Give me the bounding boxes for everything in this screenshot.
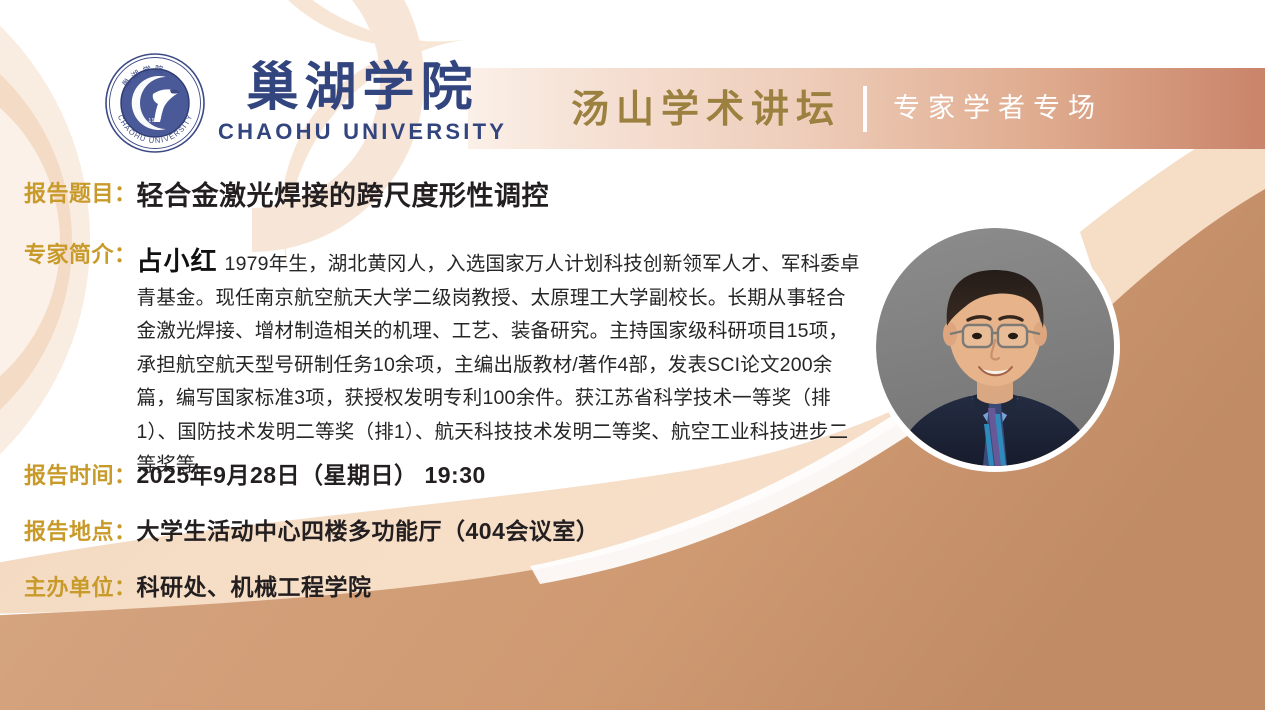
organizer-label: 主办单位：: [24, 574, 137, 602]
organizer-row: 主办单位： 科研处、机械工程学院: [24, 574, 372, 602]
svg-text:1977: 1977: [148, 118, 161, 124]
organizer-value: 科研处、机械工程学院: [137, 574, 372, 602]
place-label: 报告地点：: [24, 518, 137, 546]
speaker-name: 占小红: [137, 246, 218, 276]
university-logo: 1977 巢 湖 学 院 CHAOHU UNIVERSITY 巢湖学院 CHAO…: [104, 52, 507, 154]
seal-svg: 1977 巢 湖 学 院 CHAOHU UNIVERSITY: [104, 52, 206, 154]
bio-body: 占小红1979年生，湖北黄冈人，入选国家万人计划科技创新领军人才、军科委卓青基金…: [137, 241, 865, 483]
bio-text: 1979年生，湖北黄冈人，入选国家万人计划科技创新领军人才、军科委卓青基金。现任…: [137, 253, 860, 476]
portrait-image: [876, 228, 1114, 466]
banner-divider: [863, 86, 867, 132]
banner-main-title: 汤山学术讲坛: [571, 90, 841, 128]
title-value: 轻合金激光焊接的跨尺度形性调控: [137, 180, 550, 212]
place-value: 大学生活动中心四楼多功能厅（404会议室）: [137, 518, 600, 546]
university-seal-icon: 1977 巢 湖 学 院 CHAOHU UNIVERSITY: [104, 52, 206, 154]
university-wordmark: 巢湖学院 CHAOHU UNIVERSITY: [218, 61, 507, 145]
title-row: 报告题目： 轻合金激光焊接的跨尺度形性调控: [24, 180, 549, 212]
place-row: 报告地点： 大学生活动中心四楼多功能厅（404会议室）: [24, 518, 599, 546]
seminar-poster: 汤山学术讲坛 专家学者专场 1977 巢 湖 学 院: [0, 0, 1265, 710]
speaker-portrait: [876, 228, 1114, 466]
banner-subtitle: 专家学者专场: [893, 95, 1103, 122]
university-name-cn: 巢湖学院: [247, 61, 479, 116]
time-row: 报告时间： 2025年9月28日（星期日） 19:30: [24, 462, 486, 490]
bio-row: 专家简介： 占小红1979年生，湖北黄冈人，入选国家万人计划科技创新领军人才、军…: [24, 241, 884, 483]
time-label: 报告时间：: [24, 462, 137, 490]
title-label: 报告题目：: [24, 180, 137, 208]
time-value: 2025年9月28日（星期日） 19:30: [137, 462, 486, 490]
bio-label: 专家简介：: [24, 241, 137, 269]
university-name-en: CHAOHU UNIVERSITY: [218, 119, 507, 145]
event-banner: 汤山学术讲坛 专家学者专场: [468, 68, 1265, 149]
